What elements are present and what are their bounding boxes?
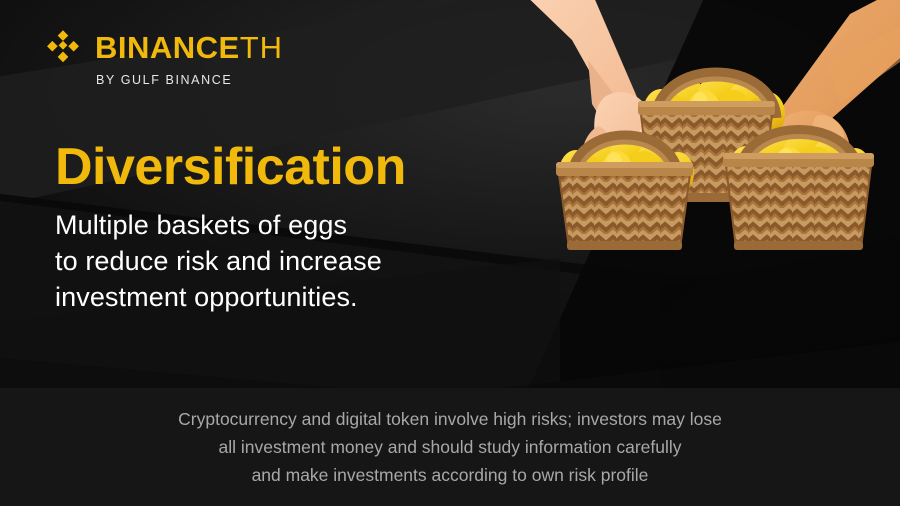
subheading-line-1: Multiple baskets of eggs: [55, 207, 525, 243]
brand-logo: BINANCETH BY GULF BINANCE: [44, 28, 283, 87]
brand-wordmark: BINANCETH: [95, 32, 283, 63]
disclaimer-line-3: and make investments according to own ri…: [252, 463, 649, 487]
page-title: Diversification: [55, 140, 525, 195]
copy-block: Diversification Multiple baskets of eggs…: [55, 140, 525, 315]
subheading: Multiple baskets of eggs to reduce risk …: [55, 207, 525, 316]
disclaimer-line-1: Cryptocurrency and digital token involve…: [178, 407, 722, 431]
subheading-line-3: investment opportunities.: [55, 279, 525, 315]
binance-diamond-icon: [44, 28, 82, 66]
eggs-in-baskets-illustration: [528, 0, 900, 392]
brand-tagline: BY GULF BINANCE: [96, 73, 283, 87]
basket-right: [723, 130, 874, 250]
basket-left: [556, 134, 694, 250]
binance-th-promo-banner: BINANCETH BY GULF BINANCE Diversificatio…: [0, 0, 900, 506]
risk-disclaimer: Cryptocurrency and digital token involve…: [0, 388, 900, 506]
brand-region: TH: [240, 30, 283, 65]
brand-name: BINANCE: [95, 30, 240, 65]
subheading-line-2: to reduce risk and increase: [55, 243, 525, 279]
disclaimer-line-2: all investment money and should study in…: [218, 435, 681, 459]
